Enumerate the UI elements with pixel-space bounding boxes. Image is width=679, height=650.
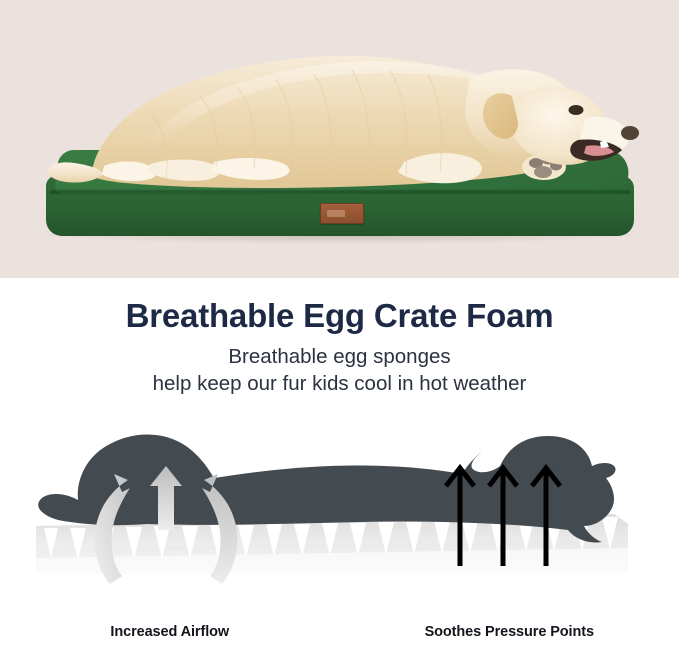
egg-crate-diagram [0,408,679,650]
caption-soothes-pressure-points: Soothes Pressure Points [340,624,679,650]
product-feature-image: Breathable Egg Crate Foam Breathable egg… [0,0,679,650]
subtitle-line-2: help keep our fur kids cool in hot weath… [0,370,679,397]
caption-row: Increased Airflow Soothes Pressure Point… [0,624,679,650]
dog-paw-pad-center [534,166,552,178]
photo-stage [0,0,679,278]
product-photo-panel [0,0,679,278]
caption-increased-airflow: Increased Airflow [0,624,340,650]
golden-retriever-dog [0,0,679,278]
subtitle: Breathable egg sponges help keep our fur… [0,334,679,397]
subtitle-line-1: Breathable egg sponges [0,343,679,370]
dog-eye [569,105,584,115]
dog-nose [621,126,639,140]
feature-text-block: Breathable Egg Crate Foam Breathable egg… [0,278,679,408]
page-title: Breathable Egg Crate Foam [0,278,679,334]
